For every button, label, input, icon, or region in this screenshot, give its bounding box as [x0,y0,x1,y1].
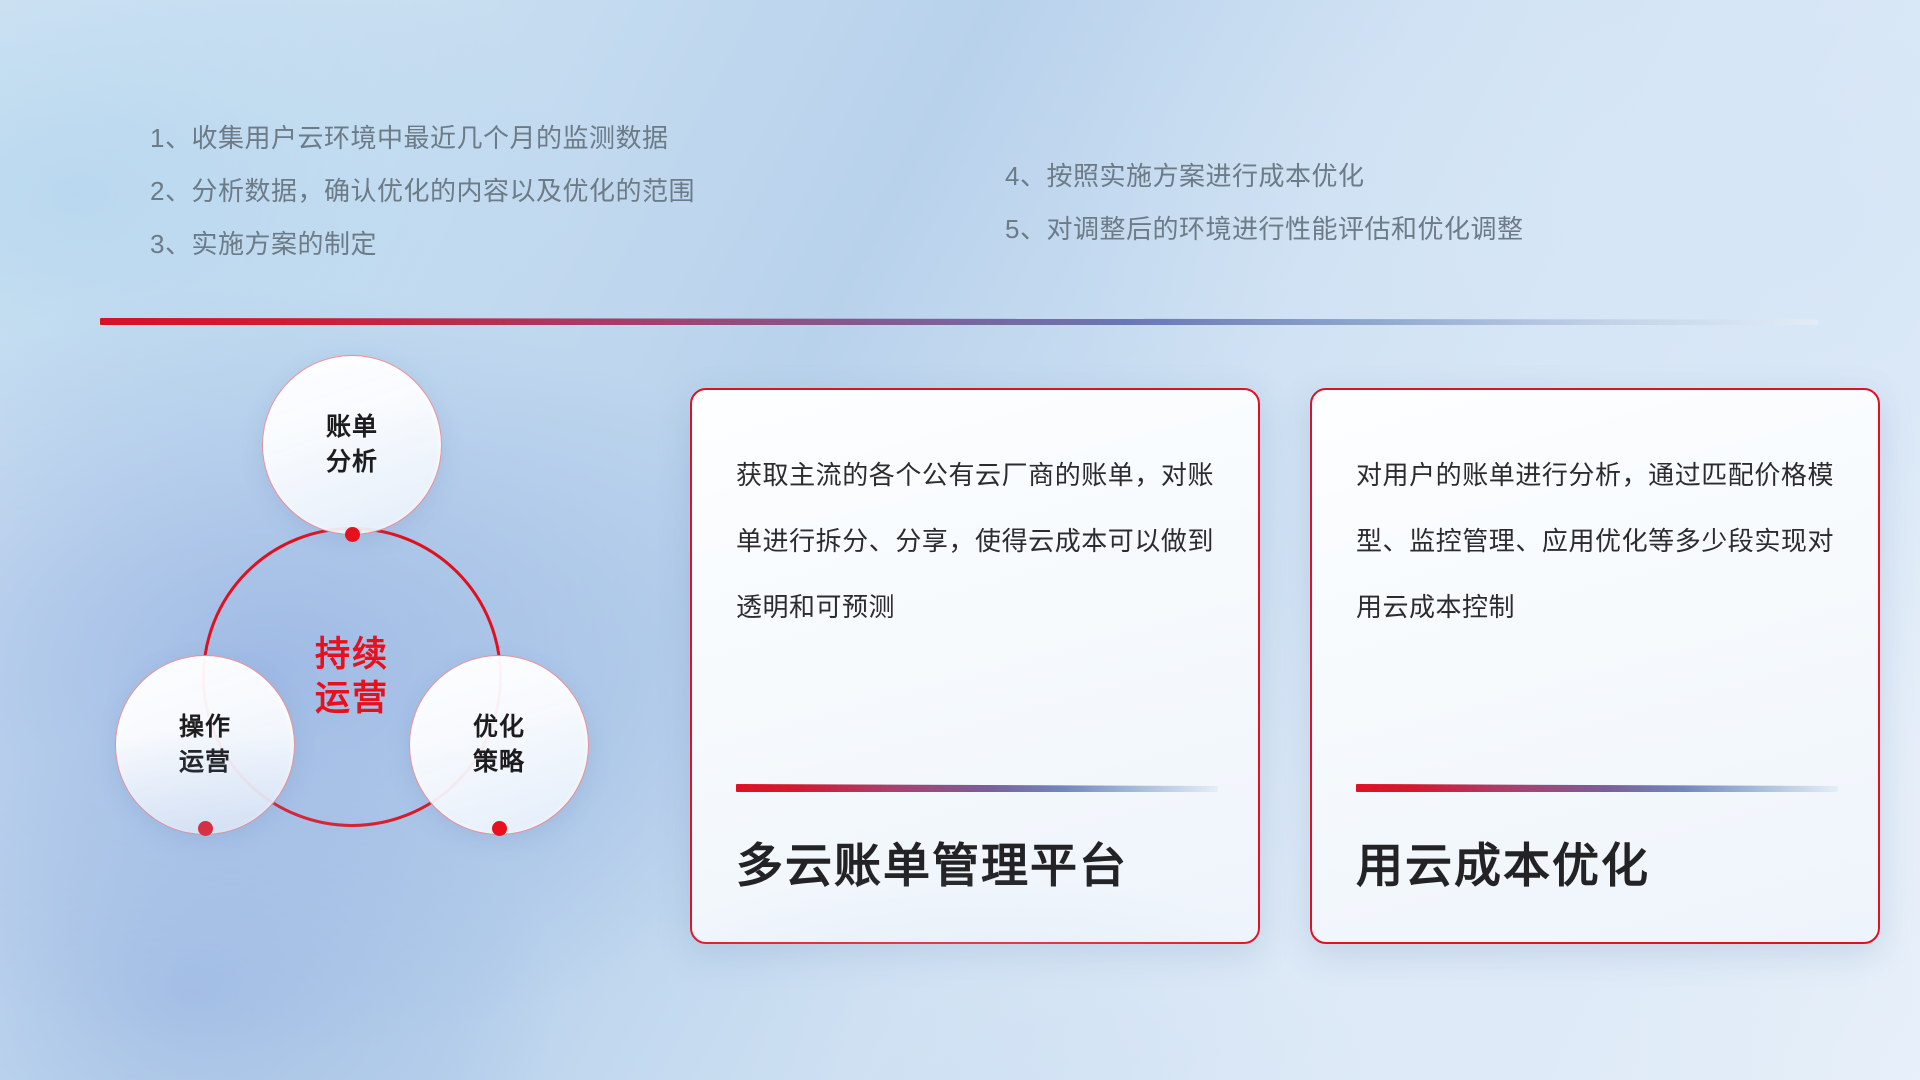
bubble-label-line1: 优化 [473,710,525,745]
bubble-label-line2: 运营 [179,745,231,780]
step-item-2: 2、分析数据，确认优化的内容以及优化的范围 [150,165,910,218]
steps-right-column: 4、按照实施方案进行成本优化 5、对调整后的环境进行性能评估和优化调整 [1005,150,1765,256]
slide-stage: 1、收集用户云环境中最近几个月的监测数据 2、分析数据，确认优化的内容以及优化的… [0,0,1920,1080]
card-body-text: 对用户的账单进行分析，通过匹配价格模型、监控管理、应用优化等多少段实现对用云成本… [1356,442,1834,707]
step-item-5: 5、对调整后的环境进行性能评估和优化调整 [1005,203,1765,256]
bubble-bill-analysis[interactable]: 账单 分析 [262,355,442,535]
bubble-label-line2: 分析 [326,445,378,480]
info-card-multicloud-billing[interactable]: 获取主流的各个公有云厂商的账单，对账单进行拆分、分享，使得云成本可以做到透明和可… [690,388,1260,944]
bubble-label-line2: 策略 [473,745,525,780]
card-body-text: 获取主流的各个公有云厂商的账单，对账单进行拆分、分享，使得云成本可以做到透明和可… [736,442,1214,707]
step-item-3: 3、实施方案的制定 [150,218,910,271]
step-item-1: 1、收集用户云环境中最近几个月的监测数据 [150,112,910,165]
info-card-cloud-cost-optimization[interactable]: 对用户的账单进行分析，通过匹配价格模型、监控管理、应用优化等多少段实现对用云成本… [1310,388,1880,944]
bubble-optimization-strategy[interactable]: 优化 策略 [409,655,589,835]
card-divider [1356,784,1838,792]
card-title: 用云成本优化 [1356,836,1650,896]
card-title: 多云账单管理平台 [736,836,1128,896]
card-divider [736,784,1218,792]
node-dot-icon [198,821,213,836]
venn-diagram: 持续 运营 账单 分析 操作 运营 优化 策略 [95,355,655,945]
bubble-operations[interactable]: 操作 运营 [115,655,295,835]
node-dot-icon [492,821,507,836]
bubble-label-line1: 操作 [179,710,231,745]
bubble-label-line1: 账单 [326,410,378,445]
center-label-line2: 运营 [315,677,389,721]
node-dot-icon [345,527,360,542]
section-divider [100,318,1818,325]
step-item-4: 4、按照实施方案进行成本优化 [1005,150,1765,203]
center-label-line1: 持续 [315,633,389,677]
steps-left-column: 1、收集用户云环境中最近几个月的监测数据 2、分析数据，确认优化的内容以及优化的… [150,112,910,271]
